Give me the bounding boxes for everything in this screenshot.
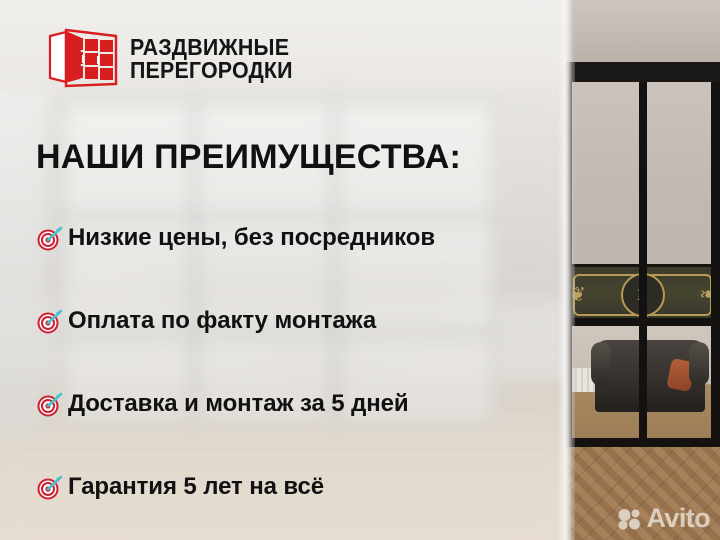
- brand-logo-text: РАЗДВИЖНЫЕ ПЕРЕГОРОДКИ: [130, 36, 305, 81]
- target-dart-icon: [36, 391, 64, 417]
- benefit-text: Низкие цены, без посредников: [68, 224, 435, 252]
- page-title: НАШИ ПРЕИМУЩЕСТВА:: [36, 138, 461, 177]
- partition-frame-rail: [565, 438, 720, 447]
- leather-sofa: [595, 340, 705, 412]
- brand-line-1: РАЗДВИЖНЫЕ: [130, 36, 293, 59]
- benefits-list: Низкие цены, без посредников Оплата по ф…: [36, 220, 536, 505]
- avito-watermark: Avito: [617, 505, 711, 532]
- partition-frame-post: [639, 82, 647, 446]
- partition-top-rail: [565, 62, 720, 82]
- advertisement-banner: ❦ ❧ ⚔: [0, 0, 720, 540]
- benefit-text: Гарантия 5 лет на всё: [68, 473, 324, 501]
- partition-frame-post: [711, 82, 720, 446]
- brand-line-2: ПЕРЕГОРОДКИ: [130, 59, 293, 82]
- list-item: Низкие цены, без посредников: [36, 220, 536, 256]
- avito-wordmark: Avito: [647, 505, 711, 532]
- photo-divider-seam: [558, 0, 572, 540]
- target-dart-icon: [36, 308, 64, 334]
- partition-frame-rail: [565, 318, 720, 326]
- list-item: Оплата по факту монтажа: [36, 303, 536, 339]
- interior-photo-right: ❦ ❧ ⚔: [565, 0, 720, 540]
- target-dart-icon: [36, 225, 64, 251]
- list-item: Гарантия 5 лет на всё: [36, 469, 536, 505]
- brand-logo: РАЗДВИЖНЫЕ ПЕРЕГОРОДКИ: [46, 28, 305, 90]
- list-item: Доставка и монтаж за 5 дней: [36, 386, 536, 422]
- interior-ceiling: [565, 0, 720, 62]
- sliding-partition-window-icon: [46, 28, 118, 90]
- throw-pillow: [666, 358, 696, 392]
- target-dart-icon: [36, 474, 64, 500]
- avito-dots-icon: [617, 508, 643, 530]
- benefit-text: Доставка и монтаж за 5 дней: [68, 390, 409, 418]
- benefit-text: Оплата по факту монтажа: [68, 307, 376, 335]
